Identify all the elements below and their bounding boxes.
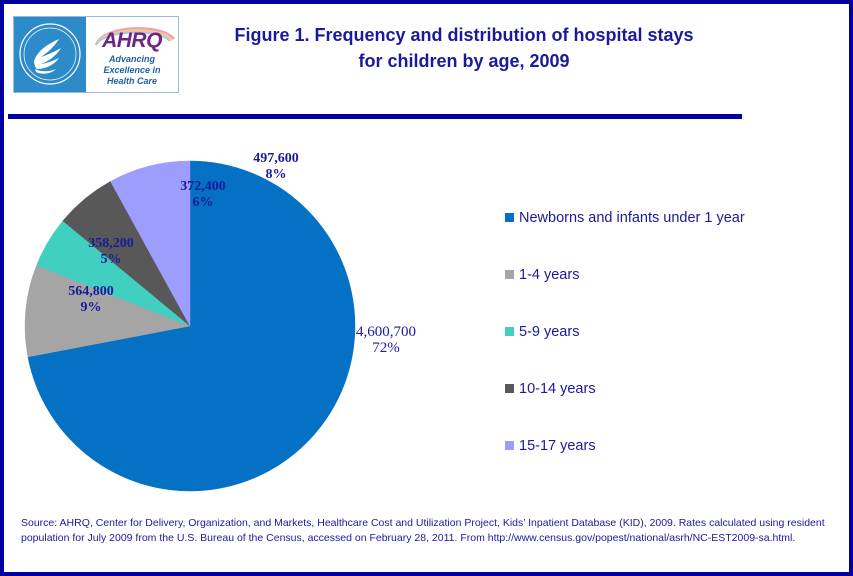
- page-title: Figure 1. Frequency and distribution of …: [184, 22, 744, 74]
- legend-label: 15-17 years: [519, 438, 596, 454]
- hhs-seal-icon: [14, 17, 86, 92]
- ahrq-tagline-text: Advancing Excellence in Health Care: [86, 54, 178, 87]
- ahrq-wordmark-text: AHRQ: [86, 30, 178, 51]
- legend-label: 10-14 years: [519, 381, 596, 397]
- pie-chart-svg: [8, 129, 488, 504]
- hhs-seal-svg: [14, 17, 86, 92]
- legend-item[interactable]: 1-4 years: [505, 246, 835, 303]
- pie-chart: 4,600,700 72% 564,800 9% 358,200 5% 372,…: [8, 129, 488, 504]
- legend-item[interactable]: 5-9 years: [505, 303, 835, 360]
- ahrq-hhs-logo: AHRQ Advancing Excellence in Health Care: [13, 16, 179, 93]
- figure-page: AHRQ Advancing Excellence in Health Care…: [0, 0, 853, 576]
- chart-area: 4,600,700 72% 564,800 9% 358,200 5% 372,…: [8, 129, 853, 504]
- ahrq-wordmark-block: AHRQ Advancing Excellence in Health Care: [86, 17, 178, 92]
- legend: Newborns and infants under 1 year 1-4 ye…: [505, 189, 835, 474]
- legend-swatch-icon: [505, 213, 514, 222]
- legend-label: 1-4 years: [519, 267, 579, 283]
- legend-swatch-icon: [505, 270, 514, 279]
- header: AHRQ Advancing Excellence in Health Care…: [4, 4, 849, 104]
- legend-item[interactable]: 10-14 years: [505, 360, 835, 417]
- legend-swatch-icon: [505, 384, 514, 393]
- legend-item[interactable]: 15-17 years: [505, 417, 835, 474]
- source-note: Source: AHRQ, Center for Delivery, Organ…: [21, 516, 831, 545]
- legend-swatch-icon: [505, 441, 514, 450]
- header-divider: [8, 114, 742, 119]
- legend-item[interactable]: Newborns and infants under 1 year: [505, 189, 835, 246]
- legend-label: 5-9 years: [519, 324, 579, 340]
- legend-label: Newborns and infants under 1 year: [519, 210, 745, 226]
- legend-swatch-icon: [505, 327, 514, 336]
- pie-slice-group: [25, 161, 355, 491]
